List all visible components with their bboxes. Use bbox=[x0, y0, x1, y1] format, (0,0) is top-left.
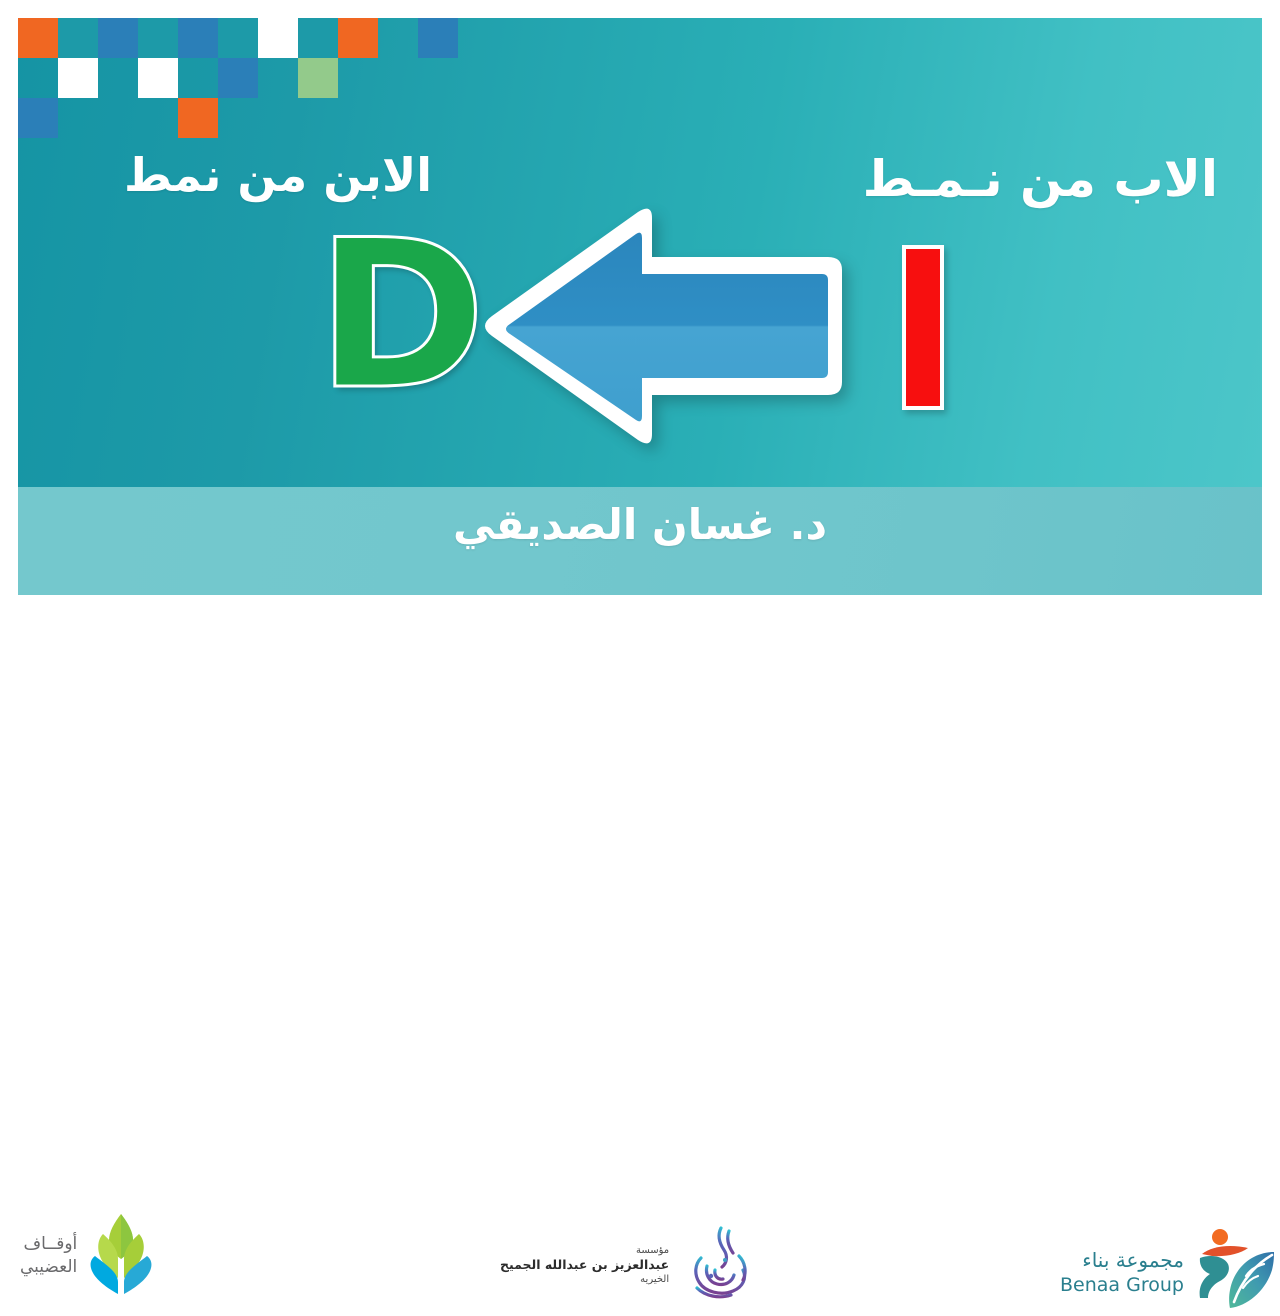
sponsor-logo-strip: أوقــاف العضيبي مؤسسة عبدالعزيز بن عبدال… bbox=[0, 600, 1280, 720]
heading-son-type: الابن من نمط bbox=[124, 148, 432, 202]
logo-benaa-text: مجموعة بناء Benaa Group bbox=[1060, 1248, 1184, 1297]
mosaic-tile bbox=[18, 18, 58, 58]
mosaic-tile bbox=[218, 18, 258, 58]
mosaic-tile bbox=[178, 18, 218, 58]
mosaic-tile bbox=[58, 18, 98, 58]
logo-benaa-line-1: مجموعة بناء bbox=[1060, 1248, 1184, 1273]
mosaic-tile bbox=[18, 98, 58, 138]
mosaic-tile bbox=[418, 18, 458, 58]
mosaic-tile bbox=[298, 58, 338, 98]
logo-jumaih-text: مؤسسة عبدالعزيز بن عبدالله الجميح الخيري… bbox=[500, 1244, 669, 1286]
logo-jumaih: مؤسسة عبدالعزيز بن عبدالله الجميح الخيري… bbox=[500, 1222, 759, 1308]
mosaic-tile bbox=[98, 18, 138, 58]
mosaic-tile bbox=[138, 58, 178, 98]
logo-awqaf: أوقــاف العضيبي bbox=[20, 1212, 155, 1300]
mosaic-tile bbox=[338, 18, 378, 58]
logo-jumaih-line-2: عبدالعزيز بن عبدالله الجميح bbox=[500, 1257, 669, 1273]
mosaic-tile bbox=[58, 58, 98, 98]
logo-awqaf-line-2: العضيبي bbox=[20, 1256, 77, 1279]
mosaic-tile bbox=[258, 18, 298, 58]
wheat-leaf-icon bbox=[87, 1212, 155, 1300]
mosaic-tile bbox=[138, 18, 178, 58]
logo-benaa-line-2: Benaa Group bbox=[1060, 1273, 1184, 1297]
heading-father-type: الاب من نـمـط bbox=[863, 150, 1218, 208]
logo-awqaf-line-1: أوقــاف bbox=[20, 1233, 77, 1256]
logo-jumaih-line-3: الخيريه bbox=[500, 1273, 669, 1286]
logo-jumaih-line-1: مؤسسة bbox=[500, 1244, 669, 1257]
mosaic-tile bbox=[298, 18, 338, 58]
arabic-calligraphy-emblem-icon bbox=[677, 1222, 759, 1308]
mosaic-tile bbox=[218, 58, 258, 98]
letter-d-son-type: D bbox=[316, 214, 486, 419]
letter-i-father-type bbox=[902, 245, 944, 410]
logo-awqaf-text: أوقــاف العضيبي bbox=[20, 1233, 77, 1279]
speaker-name: د. غسان الصديقي bbox=[0, 500, 1280, 549]
logo-benaa: مجموعة بناء Benaa Group bbox=[1060, 1228, 1278, 1316]
left-arrow-icon bbox=[470, 190, 860, 460]
mosaic-tile bbox=[178, 98, 218, 138]
person-leaf-icon bbox=[1190, 1228, 1278, 1316]
presentation-slide: الاب من نـمـط الابن من نمط D د. غسان الص… bbox=[0, 0, 1280, 720]
